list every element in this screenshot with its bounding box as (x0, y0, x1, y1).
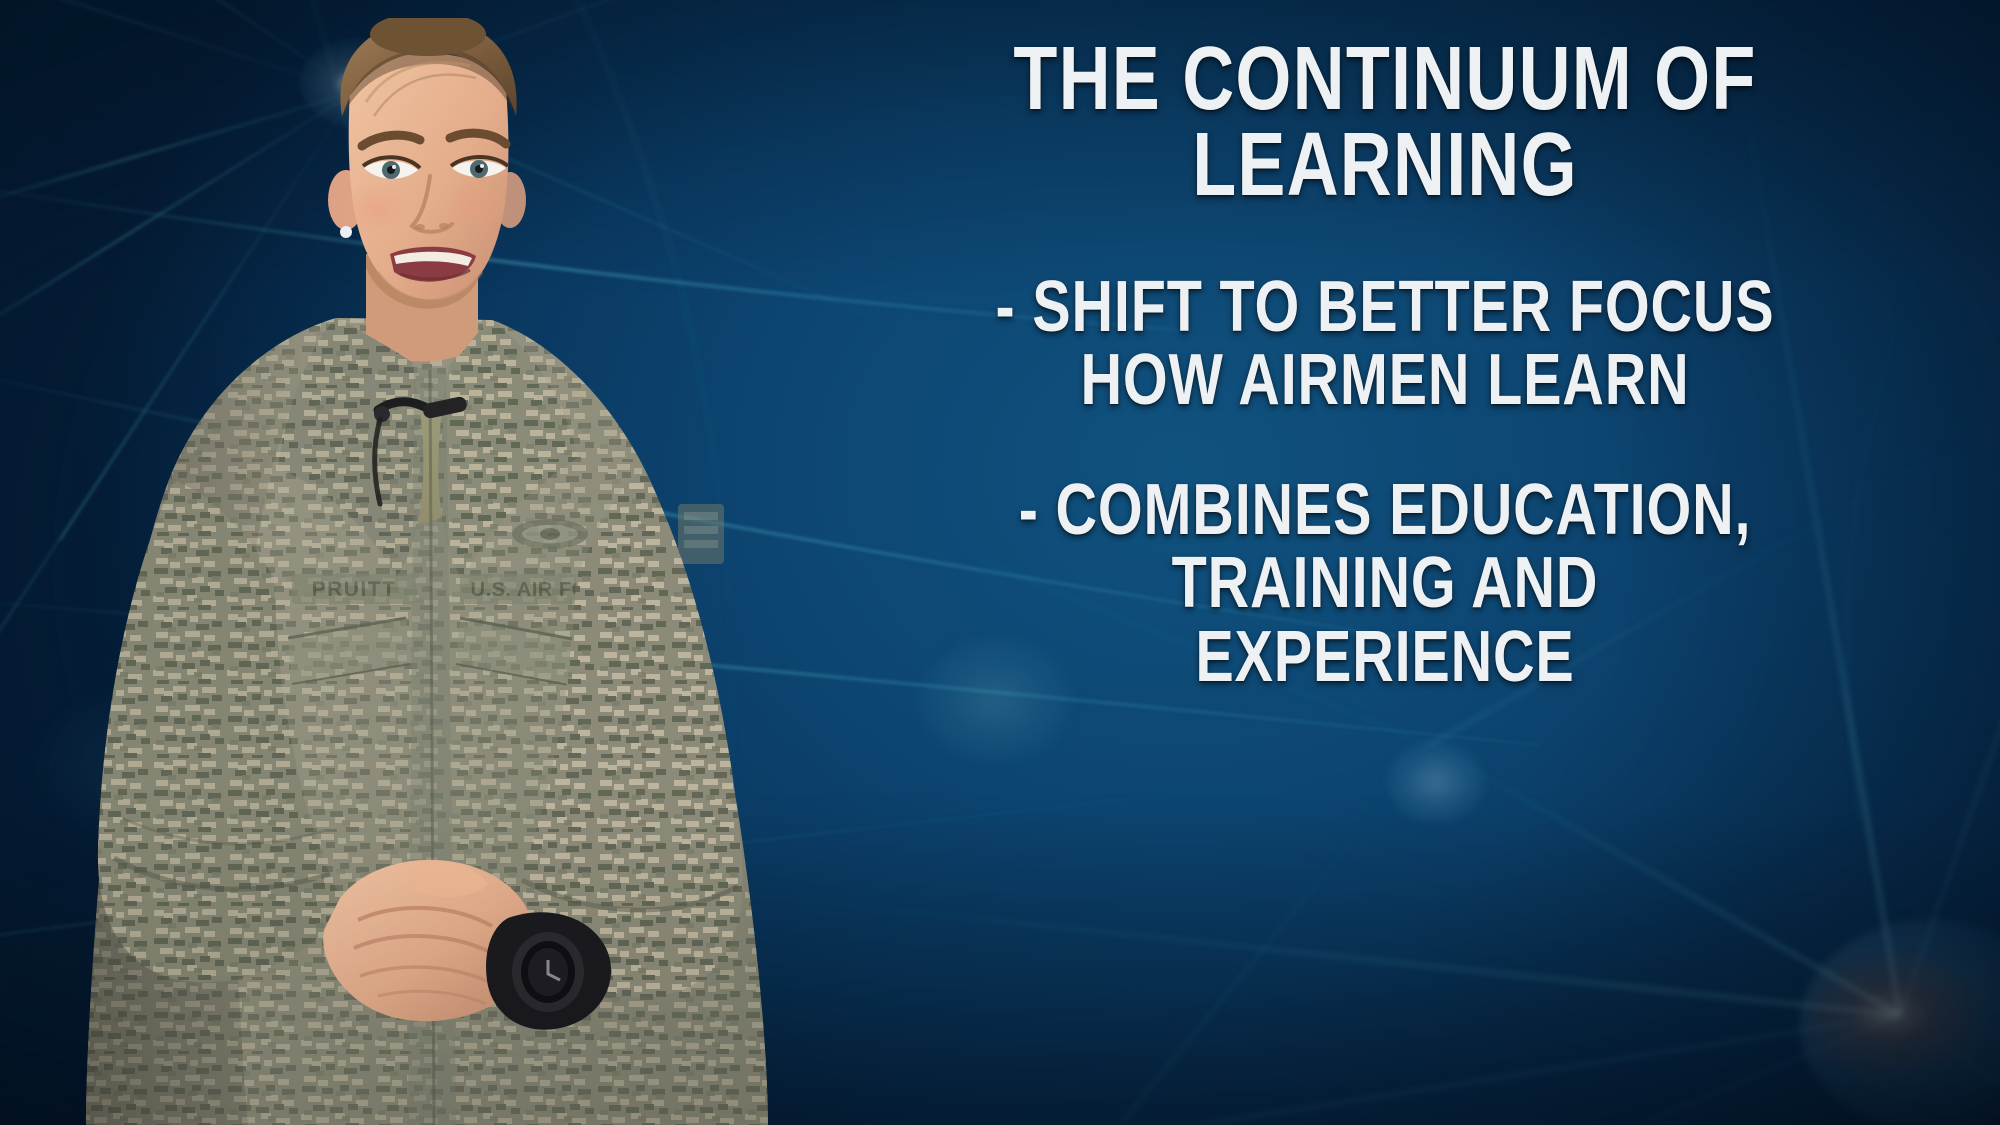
slide-bullet-list: - SHIFT TO BETTER FOCUS HOW AIRMEN LEARN… (853, 271, 1917, 694)
slide-title: THE CONTINUUM OF LEARNING (853, 36, 1917, 209)
presenter-head (328, 18, 526, 301)
stud-earring (340, 226, 352, 238)
video-still-frame: PRUITT U.S. AIR FORCE (0, 0, 2000, 1125)
slide-bullet-1: - SHIFT TO BETTER FOCUS HOW AIRMEN LEARN (996, 271, 1775, 418)
slide-text-column: THE CONTINUUM OF LEARNING - SHIFT TO BET… (770, 0, 2000, 1125)
presenter-figure: PRUITT U.S. AIR FORCE (78, 18, 798, 1125)
slide-bullet-2: - COMBINES EDUCATION, TRAINING AND EXPER… (1019, 474, 1752, 694)
svg-text:PRUITT: PRUITT (312, 578, 397, 601)
name-tape: PRUITT (292, 574, 416, 604)
